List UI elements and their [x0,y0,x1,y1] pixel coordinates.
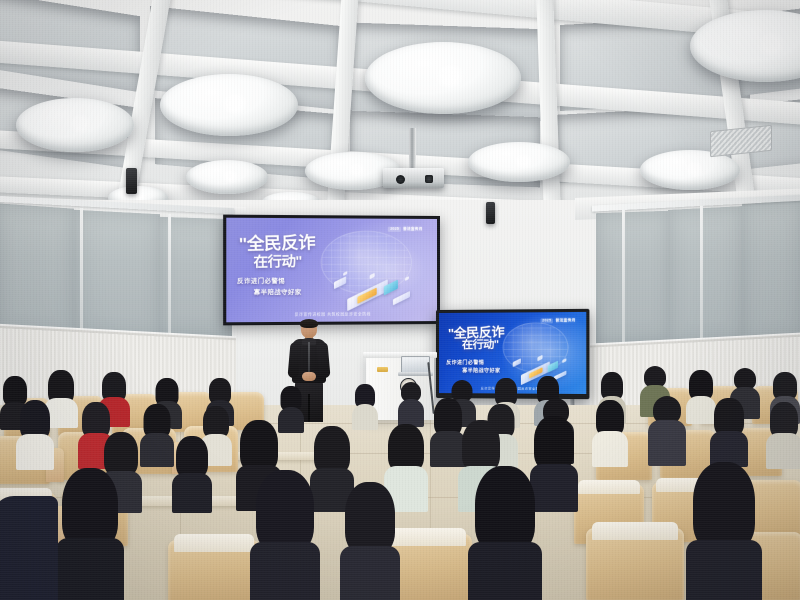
lecture-hall-photo: 2025 普法宣传月 "全民反诈 在行动" 反诈进门必警惕 寡半陪战守好家 反诈… [0,0,800,600]
slide-title: "全民反诈 在行动" [239,234,354,267]
ceiling-light [186,160,268,194]
wall-speaker [126,168,137,194]
seat-cushion [592,522,678,540]
projector-lens-icon [396,175,405,184]
tv-slide-subtitle-line-1: 反诈进门必警惕 [446,359,531,368]
ceiling-light [640,150,740,190]
slide-badge: 2025 普法宣传月 [388,227,422,232]
roller-blind[interactable] [742,200,800,342]
roller-blind[interactable] [596,211,670,344]
roller-blind[interactable] [74,210,160,339]
slide-footer: 反诈宣传进校园 共筑校园反诈安全防线 [226,312,437,318]
audience-person [592,400,628,464]
audience-person [250,470,320,600]
tv-slide-title-line-1: "全民反诈 [447,324,526,340]
badge-label: 普法宣传月 [403,227,423,231]
audience-person [340,482,400,600]
laptop-screen[interactable] [401,356,430,373]
roller-blind[interactable] [668,206,744,344]
ceiling-projector [383,168,444,188]
audience-person [468,466,542,600]
tv-slide-subtitle-line-2: 寡半陪战守好家 [462,367,531,376]
slide-subtitle-line-1: 反诈进门必警惕 [237,277,360,288]
presenter-hands [302,372,316,381]
ceiling-light [16,98,134,152]
audience-person [710,398,748,464]
tv-badge-label: 普法宣传月 [555,319,575,323]
slide-content: 2025 普法宣传月 "全民反诈 在行动" 反诈进门必警惕 寡半陪战守好家 反诈… [226,218,437,323]
presenter-hair [300,319,318,328]
tv-badge-year: 2025 [540,319,553,324]
audience-person [56,468,124,600]
podium-item [377,367,388,372]
ceiling-light [468,142,570,182]
badge-year: 2025 [388,227,401,232]
audience-person [352,384,378,428]
roller-blind[interactable] [0,203,74,336]
audience-person [172,436,212,510]
slide-title-line-2: 在行动" [254,253,354,269]
ceiling-light [365,42,521,114]
audience-person [648,396,686,464]
ceiling-light [160,74,298,136]
wall-speaker [486,202,495,224]
audience-person [686,462,762,600]
audience-person [16,400,54,466]
tv-slide-title-line-2: 在行动" [462,339,527,352]
slide-title-line-1: "全民反诈 [239,233,354,253]
slide-subtitle-line-2: 寡半陪战守好家 [254,288,360,299]
seat-cushion [174,534,254,552]
projector-mount [409,128,416,170]
projection-screen[interactable]: 2025 普法宣传月 "全民反诈 在行动" 反诈进门必警惕 寡半陪战守好家 反诈… [223,215,440,326]
audience-person [766,402,800,466]
audience-person [398,382,424,426]
audience-person [0,486,60,600]
seat-cushion [578,480,640,494]
slide-subtitle: 反诈进门必警惕 寡半陪战守好家 [237,277,360,299]
audience-person [140,404,174,464]
projector-vent-icon [425,175,433,183]
